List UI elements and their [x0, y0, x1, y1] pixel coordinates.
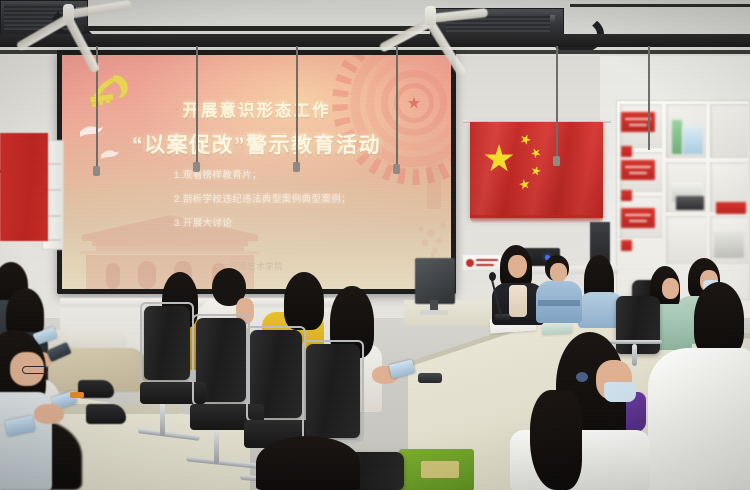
- flag-small-star-icon-4: [518, 178, 531, 191]
- chair-5[interactable]: [616, 296, 660, 354]
- shelf-label-card-6: [621, 240, 632, 251]
- ponytail: [530, 390, 582, 490]
- flag-small-star-icon-2: [529, 146, 543, 160]
- book-2: [683, 126, 703, 154]
- shelf-label-card-1: [621, 112, 655, 132]
- book-1: [672, 120, 682, 154]
- green-tote-bag: [399, 449, 474, 490]
- shelf-label-card-7: [716, 202, 746, 214]
- slide-footer: 环境艺术学院: [62, 261, 451, 272]
- shelf-label-card-5: [621, 208, 655, 228]
- logo-mark-icon: [466, 259, 474, 267]
- slide-bullet-3: 3.开展大讨论: [174, 215, 451, 229]
- book-4: [676, 196, 704, 210]
- notebook-on-table: [542, 323, 572, 335]
- shelf-cell-8: [666, 216, 706, 264]
- chair-5-post: [632, 344, 637, 366]
- desktop-monitor[interactable]: [415, 258, 455, 304]
- ceiling-pipe: [570, 4, 750, 7]
- shelf-label-card-4: [621, 190, 632, 201]
- hair-tie-icon: [576, 372, 588, 382]
- shelf-label-card-3: [621, 160, 655, 180]
- classroom-photo: 开展意识形态工作 “以案促改”警示教育活动 1.观看榜样教育片； 2.剖析学校违…: [0, 0, 750, 490]
- ceiling-beam: [0, 34, 750, 47]
- chair-4-frame: [302, 340, 364, 442]
- black-shoe-2: [86, 404, 126, 424]
- flag-small-star-icon-1: [518, 132, 532, 146]
- shelf-cell-3: [710, 104, 748, 158]
- wall-logo-sign: [462, 254, 502, 271]
- shelf-label-card-2: [621, 146, 632, 157]
- microphone-base: [495, 314, 510, 320]
- flag-big-star-icon: [484, 144, 514, 174]
- chair-2-post: [214, 428, 219, 464]
- chair-2-frame: [192, 314, 250, 406]
- ceiling-cable: [84, 26, 434, 31]
- monitor-stand-base: [420, 310, 448, 315]
- chair-3-frame: [246, 326, 306, 422]
- slide-bullet-2: 2.剖析学校违纪违法典型案例典型案例；: [174, 191, 451, 205]
- slide-bullet-1: 1.观看榜样教育片；: [174, 167, 451, 181]
- face-mask-foreground: [604, 382, 636, 402]
- book-5: [714, 232, 744, 258]
- flag-small-star-icon-3: [530, 165, 542, 177]
- slide-title: 开展意识形态工作: [62, 97, 451, 121]
- microphone-head-icon: [489, 272, 496, 281]
- chair-1-post: [160, 402, 165, 436]
- chair-5-arm: [610, 340, 662, 344]
- chair-1-frame: [140, 302, 194, 384]
- keys-on-table: [418, 373, 442, 383]
- shirt-stripe: [538, 300, 580, 306]
- slide-subtitle: “以案促改”警示教育活动: [62, 129, 451, 159]
- slide-bullet-list: 1.观看榜样教育片； 2.剖析学校违纪违法典型案例典型案例； 3.开展大讨论: [174, 167, 451, 239]
- phone-accessory: [70, 392, 84, 398]
- chinese-national-flag: [470, 122, 603, 218]
- eyeglasses-icon: [22, 366, 48, 374]
- left-red-banner: [0, 133, 48, 241]
- bag-tag-label: [421, 461, 459, 478]
